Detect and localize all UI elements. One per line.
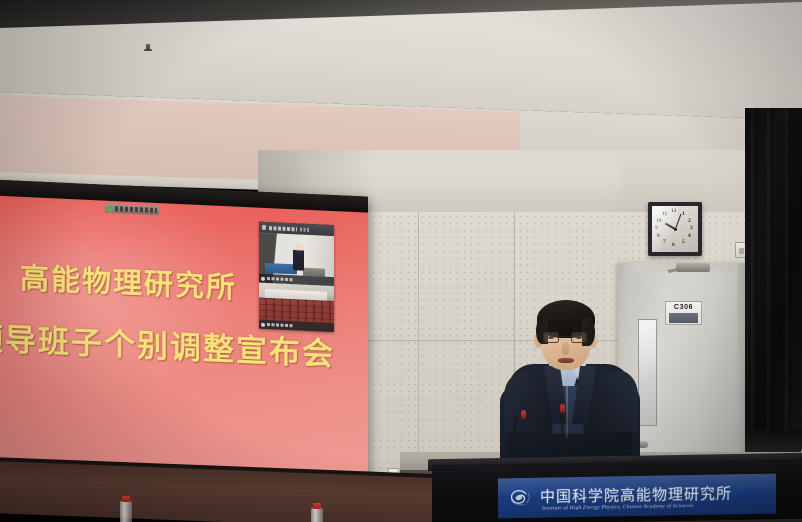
bottle-cap-icon — [122, 496, 130, 502]
speaker-jacket-zipper — [566, 372, 568, 438]
participant-name-label — [267, 277, 293, 282]
video-conference-title — [269, 226, 297, 231]
bottle-cap-icon — [313, 503, 321, 509]
glasses-bridge-icon — [559, 336, 571, 337]
podium-organization-en: Institute of High Energy Physics, Chines… — [542, 503, 693, 512]
presentation-toolbar-label — [115, 206, 157, 213]
video-tile-auditorium[interactable] — [259, 283, 334, 332]
water-bottle[interactable] — [120, 496, 132, 522]
glasses-icon — [543, 332, 559, 343]
podium-nameplate: 中国科学院高能物理研究所 Institute of High Energy Ph… — [498, 474, 776, 519]
stage-curtain — [745, 108, 802, 438]
water-bottle[interactable] — [311, 503, 323, 522]
clock-numeral: 3 — [690, 226, 693, 232]
speaker-mouth — [558, 358, 574, 363]
glasses-icon — [571, 332, 587, 343]
participant-icon — [261, 322, 265, 326]
door-vision-panel — [638, 319, 657, 426]
clock-glass-glare — [652, 206, 678, 252]
clock-numeral: 1 — [682, 212, 685, 218]
video-camera-icon — [262, 225, 266, 230]
video-conference-panel[interactable] — [259, 222, 334, 332]
door-room-sign: C306 — [665, 301, 702, 325]
bottle-body — [311, 508, 323, 522]
participant-name-label — [267, 323, 293, 328]
clock-numeral: 5 — [682, 240, 685, 246]
participant-icon — [261, 276, 265, 280]
clock-numeral: 2 — [688, 219, 691, 225]
video-tile-remote-room[interactable] — [259, 233, 334, 286]
door-closer — [676, 263, 710, 272]
microphone-head-icon — [560, 404, 565, 413]
projected-slide: 高能物理研究所 领导班子个别调整宣布会 — [0, 195, 368, 474]
presentation-status-icon — [107, 205, 113, 211]
curtain-fold — [785, 108, 791, 438]
window-controls-icon[interactable] — [300, 227, 310, 231]
room-number-label: C306 — [666, 304, 701, 311]
curtain-fold — [751, 108, 757, 438]
sprinkler-head-icon — [146, 44, 150, 51]
door-glass-glare — [639, 320, 656, 425]
presenting-speaker — [500, 300, 640, 480]
door-sign-nameplate-slot — [669, 313, 698, 323]
ihep-spiral-logo — [508, 487, 534, 509]
wall-clock: 12 1 2 3 4 5 6 7 8 9 10 11 — [648, 202, 702, 256]
microphone-head-icon — [521, 410, 526, 419]
video-tile-person — [293, 244, 304, 270]
slide-title-line-1: 高能物理研究所 — [20, 255, 237, 307]
curtain-fold — [767, 108, 773, 438]
projection-screen: 高能物理研究所 领导班子个别调整宣布会 — [0, 179, 368, 488]
presentation-toolbar[interactable] — [105, 204, 159, 215]
conference-room-scene: 12 1 2 3 4 5 6 7 8 9 10 11 C306 — [0, 0, 802, 522]
bottle-body — [120, 501, 132, 522]
speaker-nose — [562, 342, 569, 355]
clock-numeral: 4 — [688, 234, 691, 240]
